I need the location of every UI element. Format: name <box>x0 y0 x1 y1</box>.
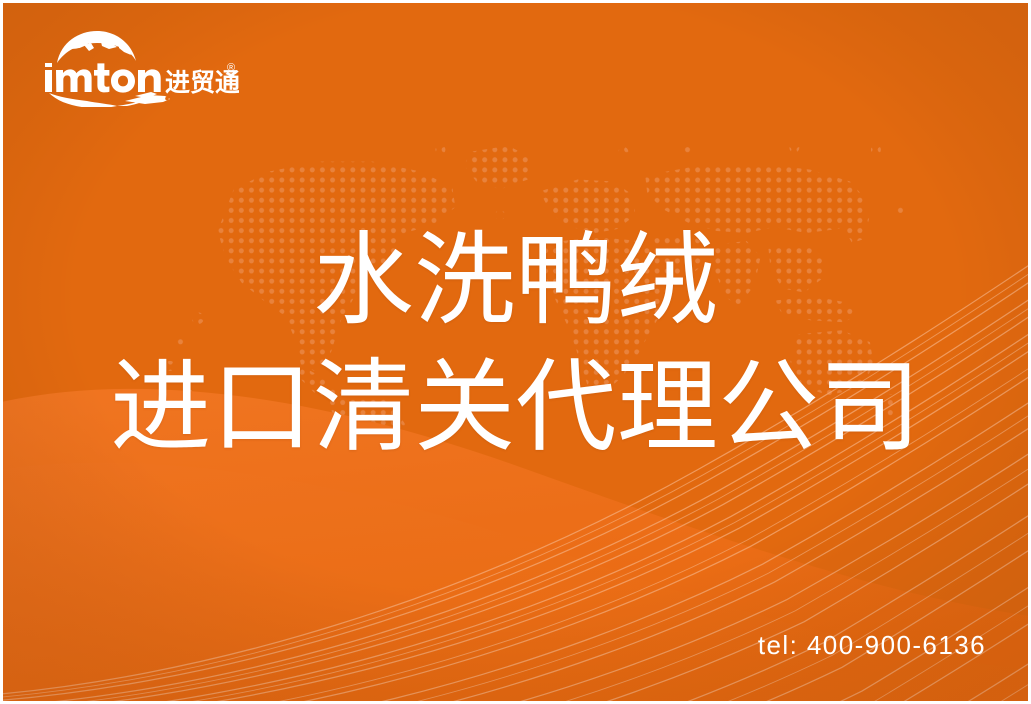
promotional-banner: 进贸通 ® 水洗鸭绒 进口清关代理公司 tel: 400-900-6136 <box>0 0 1031 704</box>
logo-wordmark-latin <box>45 63 161 93</box>
logo-trademark-symbol: ® <box>227 62 235 74</box>
background-decoration <box>3 3 1028 701</box>
swoosh-arrow-icon <box>49 92 170 107</box>
globe-world-map-icon <box>57 31 136 63</box>
company-logo[interactable]: 进贸通 ® <box>39 29 239 107</box>
vignette-overlay <box>3 3 1028 701</box>
logo-artwork: 进贸通 ® <box>39 29 239 107</box>
contact-telephone[interactable]: tel: 400-900-6136 <box>758 630 986 661</box>
